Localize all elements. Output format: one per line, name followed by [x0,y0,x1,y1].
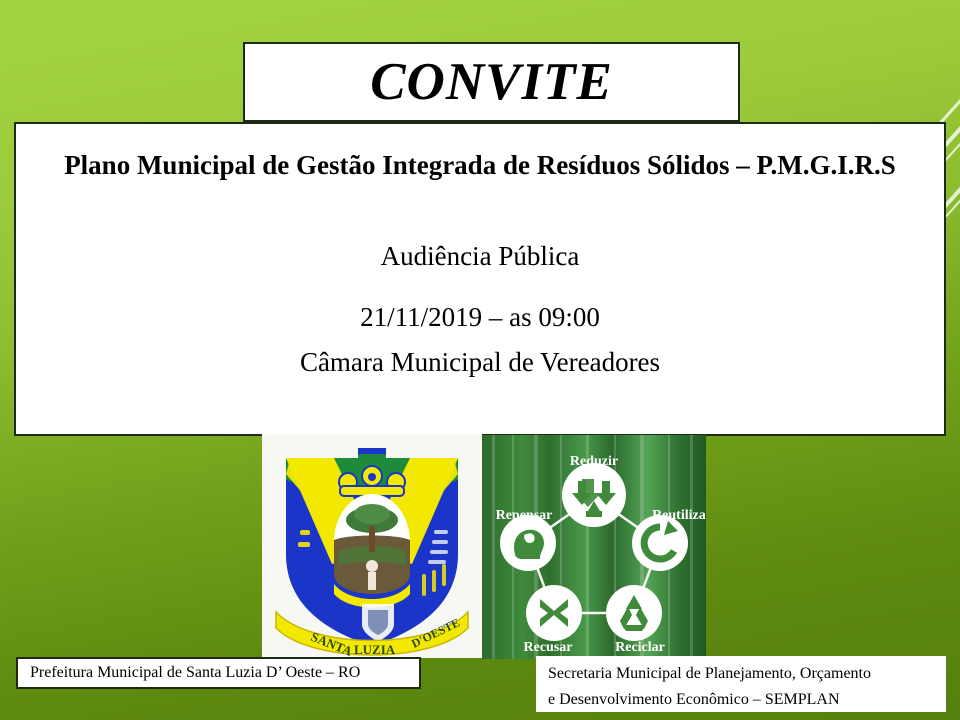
event-datetime: 21/11/2019 – as 09:00 [42,298,918,337]
node-label-reduzir: Reduzir [570,454,618,469]
page-title: CONVITE [370,56,613,109]
five-r-pentagon-icon: Reduzir Reutilizar Reciclar Recusa [482,435,706,659]
presentation-slide: CONVITE Plano Municipal de Gestão Integr… [0,0,960,720]
footer-semplan-box: Secretaria Municipal de Planejamento, Or… [536,656,946,712]
footer-semplan-line-1: Secretaria Municipal de Planejamento, Or… [548,661,938,687]
coat-of-arms-image: SANTA LUZIA D'OESTE [262,434,482,658]
ribbon-text-center: LUZIA [354,642,396,657]
event-type: Audiência Pública [42,239,918,274]
node-label-reutilizar: Reutilizar [652,508,706,523]
node-label-repensar: Repensar [496,508,553,523]
recycling-diagram-image: Reduzir Reutilizar Reciclar Recusa [482,435,706,659]
plan-heading: Plano Municipal de Gestão Integrada de R… [42,146,918,185]
event-location: Câmara Municipal de Vereadores [42,343,918,382]
invitation-title-box: CONVITE [243,42,740,122]
coat-of-arms-icon: SANTA LUZIA D'OESTE [262,434,482,658]
footer-prefeitura-text: Prefeitura Municipal de Santa Luzia D’ O… [30,665,360,681]
footer-prefeitura-box: Prefeitura Municipal de Santa Luzia D’ O… [16,657,421,689]
node-label-reciclar: Reciclar [615,640,665,655]
node-label-recusar: Recusar [524,640,573,655]
footer-semplan-line-2: e Desenvolvimento Econômico – SEMPLAN [548,687,938,713]
main-content-box: Plano Municipal de Gestão Integrada de R… [14,122,946,436]
